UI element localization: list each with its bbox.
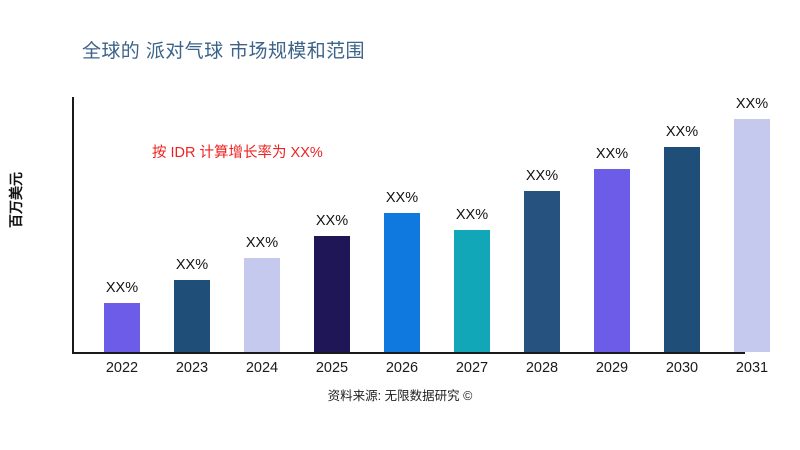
x-axis-tick-2031: 2031	[717, 360, 787, 376]
source-note: 资料来源: 无限数据研究 ©	[0, 385, 800, 404]
bar	[594, 169, 630, 352]
bar-value-label: XX%	[302, 213, 362, 229]
x-axis-tick-2025: 2025	[297, 360, 367, 376]
bar	[384, 213, 420, 352]
x-axis-tick-2028: 2028	[507, 360, 577, 376]
bar-value-label: XX%	[92, 280, 152, 296]
bar	[524, 191, 560, 352]
x-axis-tick-2024: 2024	[227, 360, 297, 376]
bar	[314, 236, 350, 352]
plot-area: XX%2022XX%2023XX%2024XX%2025XX%2026XX%20…	[0, 0, 800, 450]
bar-value-label: XX%	[512, 168, 572, 184]
bar	[664, 147, 700, 352]
chart-figure: 全球的 派对气球 市场规模和范围 按 IDR 计算增长率为 XX% 百万美元 X…	[0, 0, 800, 450]
x-axis-tick-2023: 2023	[157, 360, 227, 376]
x-axis-tick-2029: 2029	[577, 360, 647, 376]
bar-value-label: XX%	[162, 257, 222, 273]
x-axis-tick-2027: 2027	[437, 360, 507, 376]
x-axis-tick-2022: 2022	[87, 360, 157, 376]
bar-value-label: XX%	[372, 190, 432, 206]
bar	[104, 303, 140, 352]
bar-value-label: XX%	[722, 96, 782, 112]
bar	[734, 119, 770, 352]
bar-value-label: XX%	[582, 146, 642, 162]
bar-value-label: XX%	[652, 124, 712, 140]
bar	[244, 258, 280, 352]
bar-value-label: XX%	[232, 235, 292, 251]
bar	[174, 280, 210, 352]
x-axis-tick-2030: 2030	[647, 360, 717, 376]
bar	[454, 230, 490, 352]
x-axis-tick-2026: 2026	[367, 360, 437, 376]
bar-value-label: XX%	[442, 207, 502, 223]
